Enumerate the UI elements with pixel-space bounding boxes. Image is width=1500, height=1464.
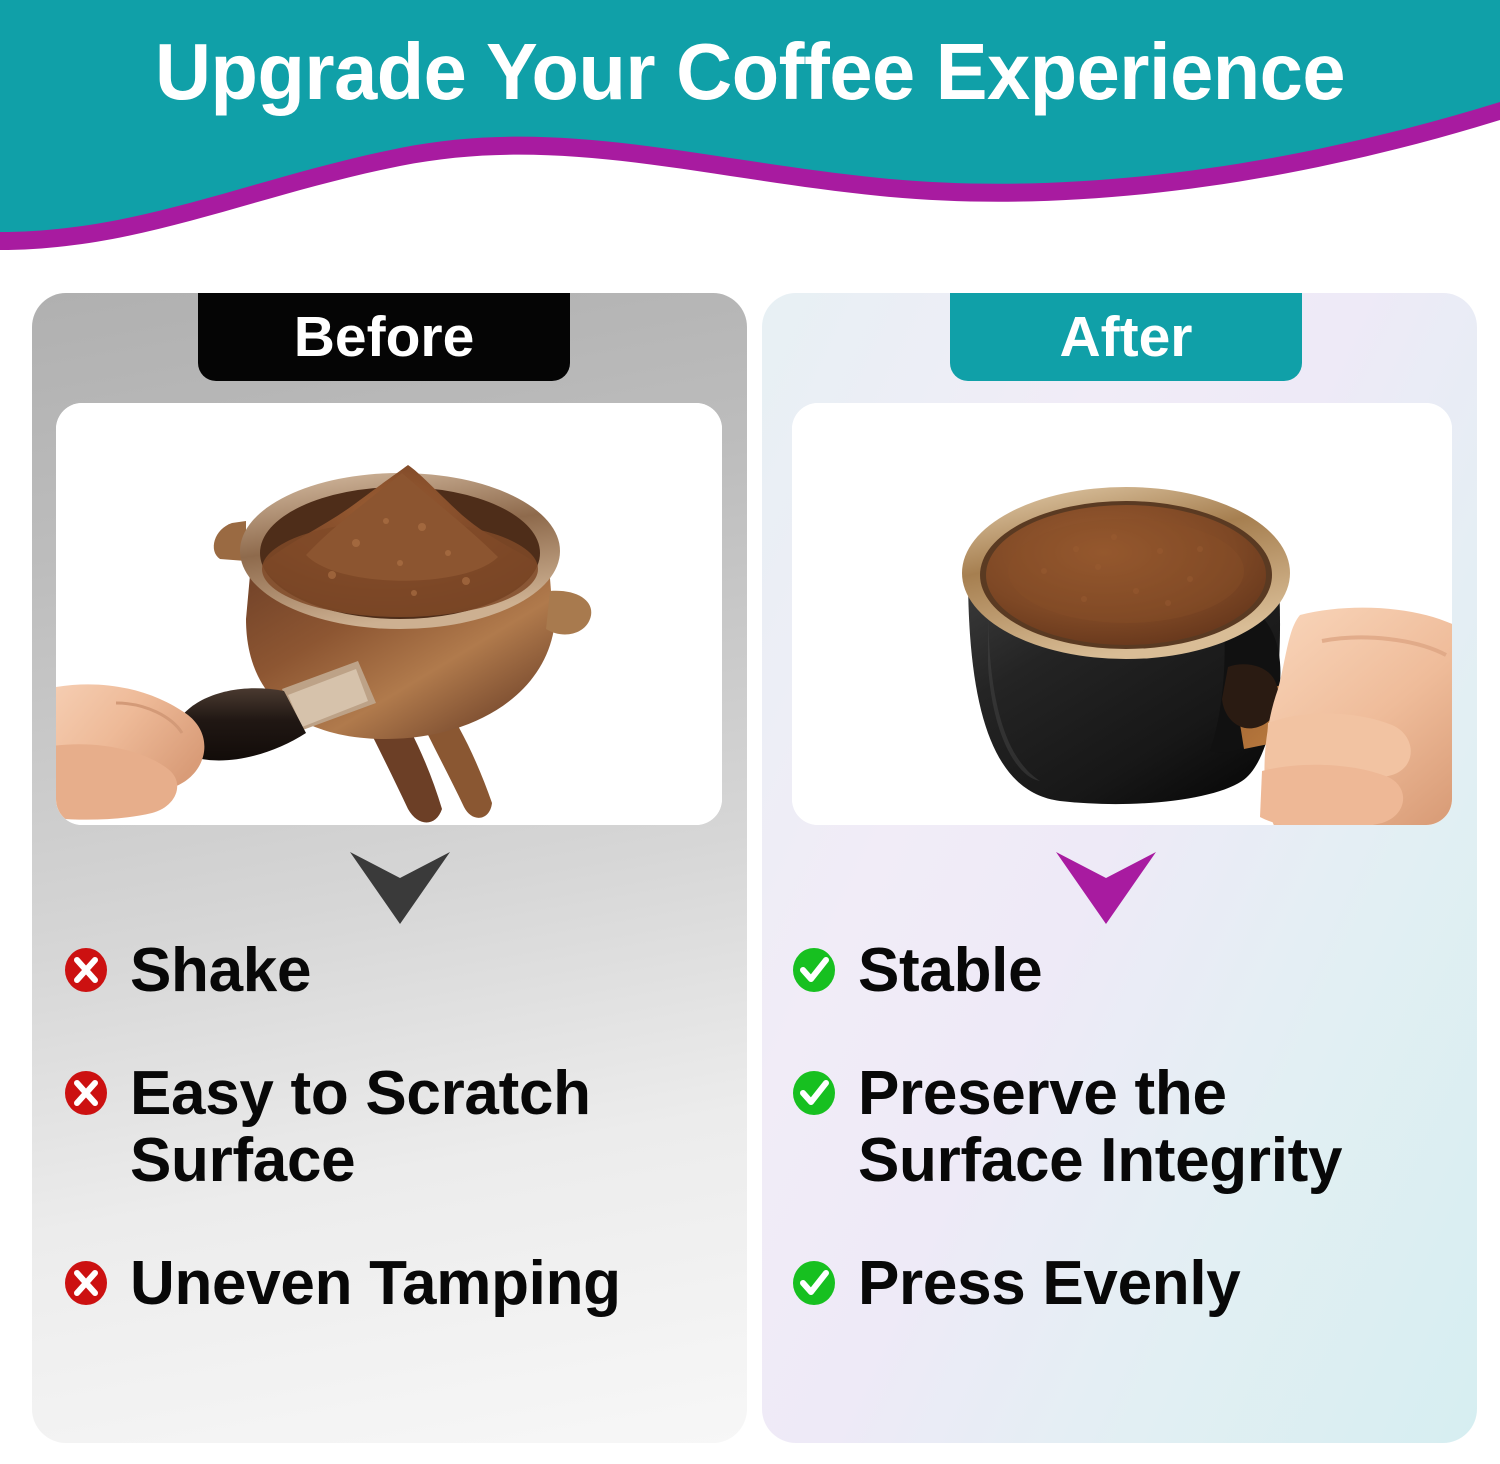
list-item: Shake — [64, 938, 724, 1005]
feature-label: Easy to Scratch Surface — [130, 1061, 724, 1195]
list-item: Uneven Tamping — [64, 1251, 724, 1318]
product-photo-after — [792, 403, 1452, 825]
feature-list-after: Stable Preserve the Surface Integrity Pr… — [792, 938, 1452, 1318]
comparison-panel-before: Before — [32, 293, 747, 1443]
tamping-mat-level-grounds-illustration — [792, 403, 1452, 825]
circle-x-icon — [64, 1260, 108, 1306]
portafilter-loose-grounds-illustration — [56, 403, 722, 825]
header-banner: Upgrade Your Coffee Experience — [0, 0, 1500, 290]
product-photo-before — [56, 403, 722, 825]
feature-label: Shake — [130, 938, 311, 1005]
circle-x-icon — [64, 1070, 108, 1116]
list-item: Preserve the Surface Integrity — [792, 1061, 1452, 1195]
list-item: Easy to Scratch Surface — [64, 1061, 724, 1195]
feature-label: Stable — [858, 938, 1042, 1005]
infographic-canvas: Upgrade Your Coffee Experience Before — [0, 0, 1500, 1464]
list-item: Stable — [792, 938, 1452, 1005]
badge-after: After — [950, 293, 1302, 381]
badge-before: Before — [198, 293, 570, 381]
feature-label: Press Evenly — [858, 1251, 1240, 1318]
page-title: Upgrade Your Coffee Experience — [23, 24, 1478, 120]
circle-check-icon — [792, 1070, 836, 1116]
chevron-down-arrow-icon-after — [1054, 848, 1158, 926]
list-item: Press Evenly — [792, 1251, 1452, 1318]
feature-label: Uneven Tamping — [130, 1251, 621, 1318]
feature-label: Preserve the Surface Integrity — [858, 1061, 1452, 1195]
chevron-down-arrow-icon-before — [348, 848, 452, 926]
feature-list-before: Shake Easy to Scratch Surface Uneven Tam… — [64, 938, 724, 1318]
circle-check-icon — [792, 1260, 836, 1306]
comparison-panel-after: After — [762, 293, 1477, 1443]
circle-check-icon — [792, 947, 836, 993]
circle-x-icon — [64, 947, 108, 993]
